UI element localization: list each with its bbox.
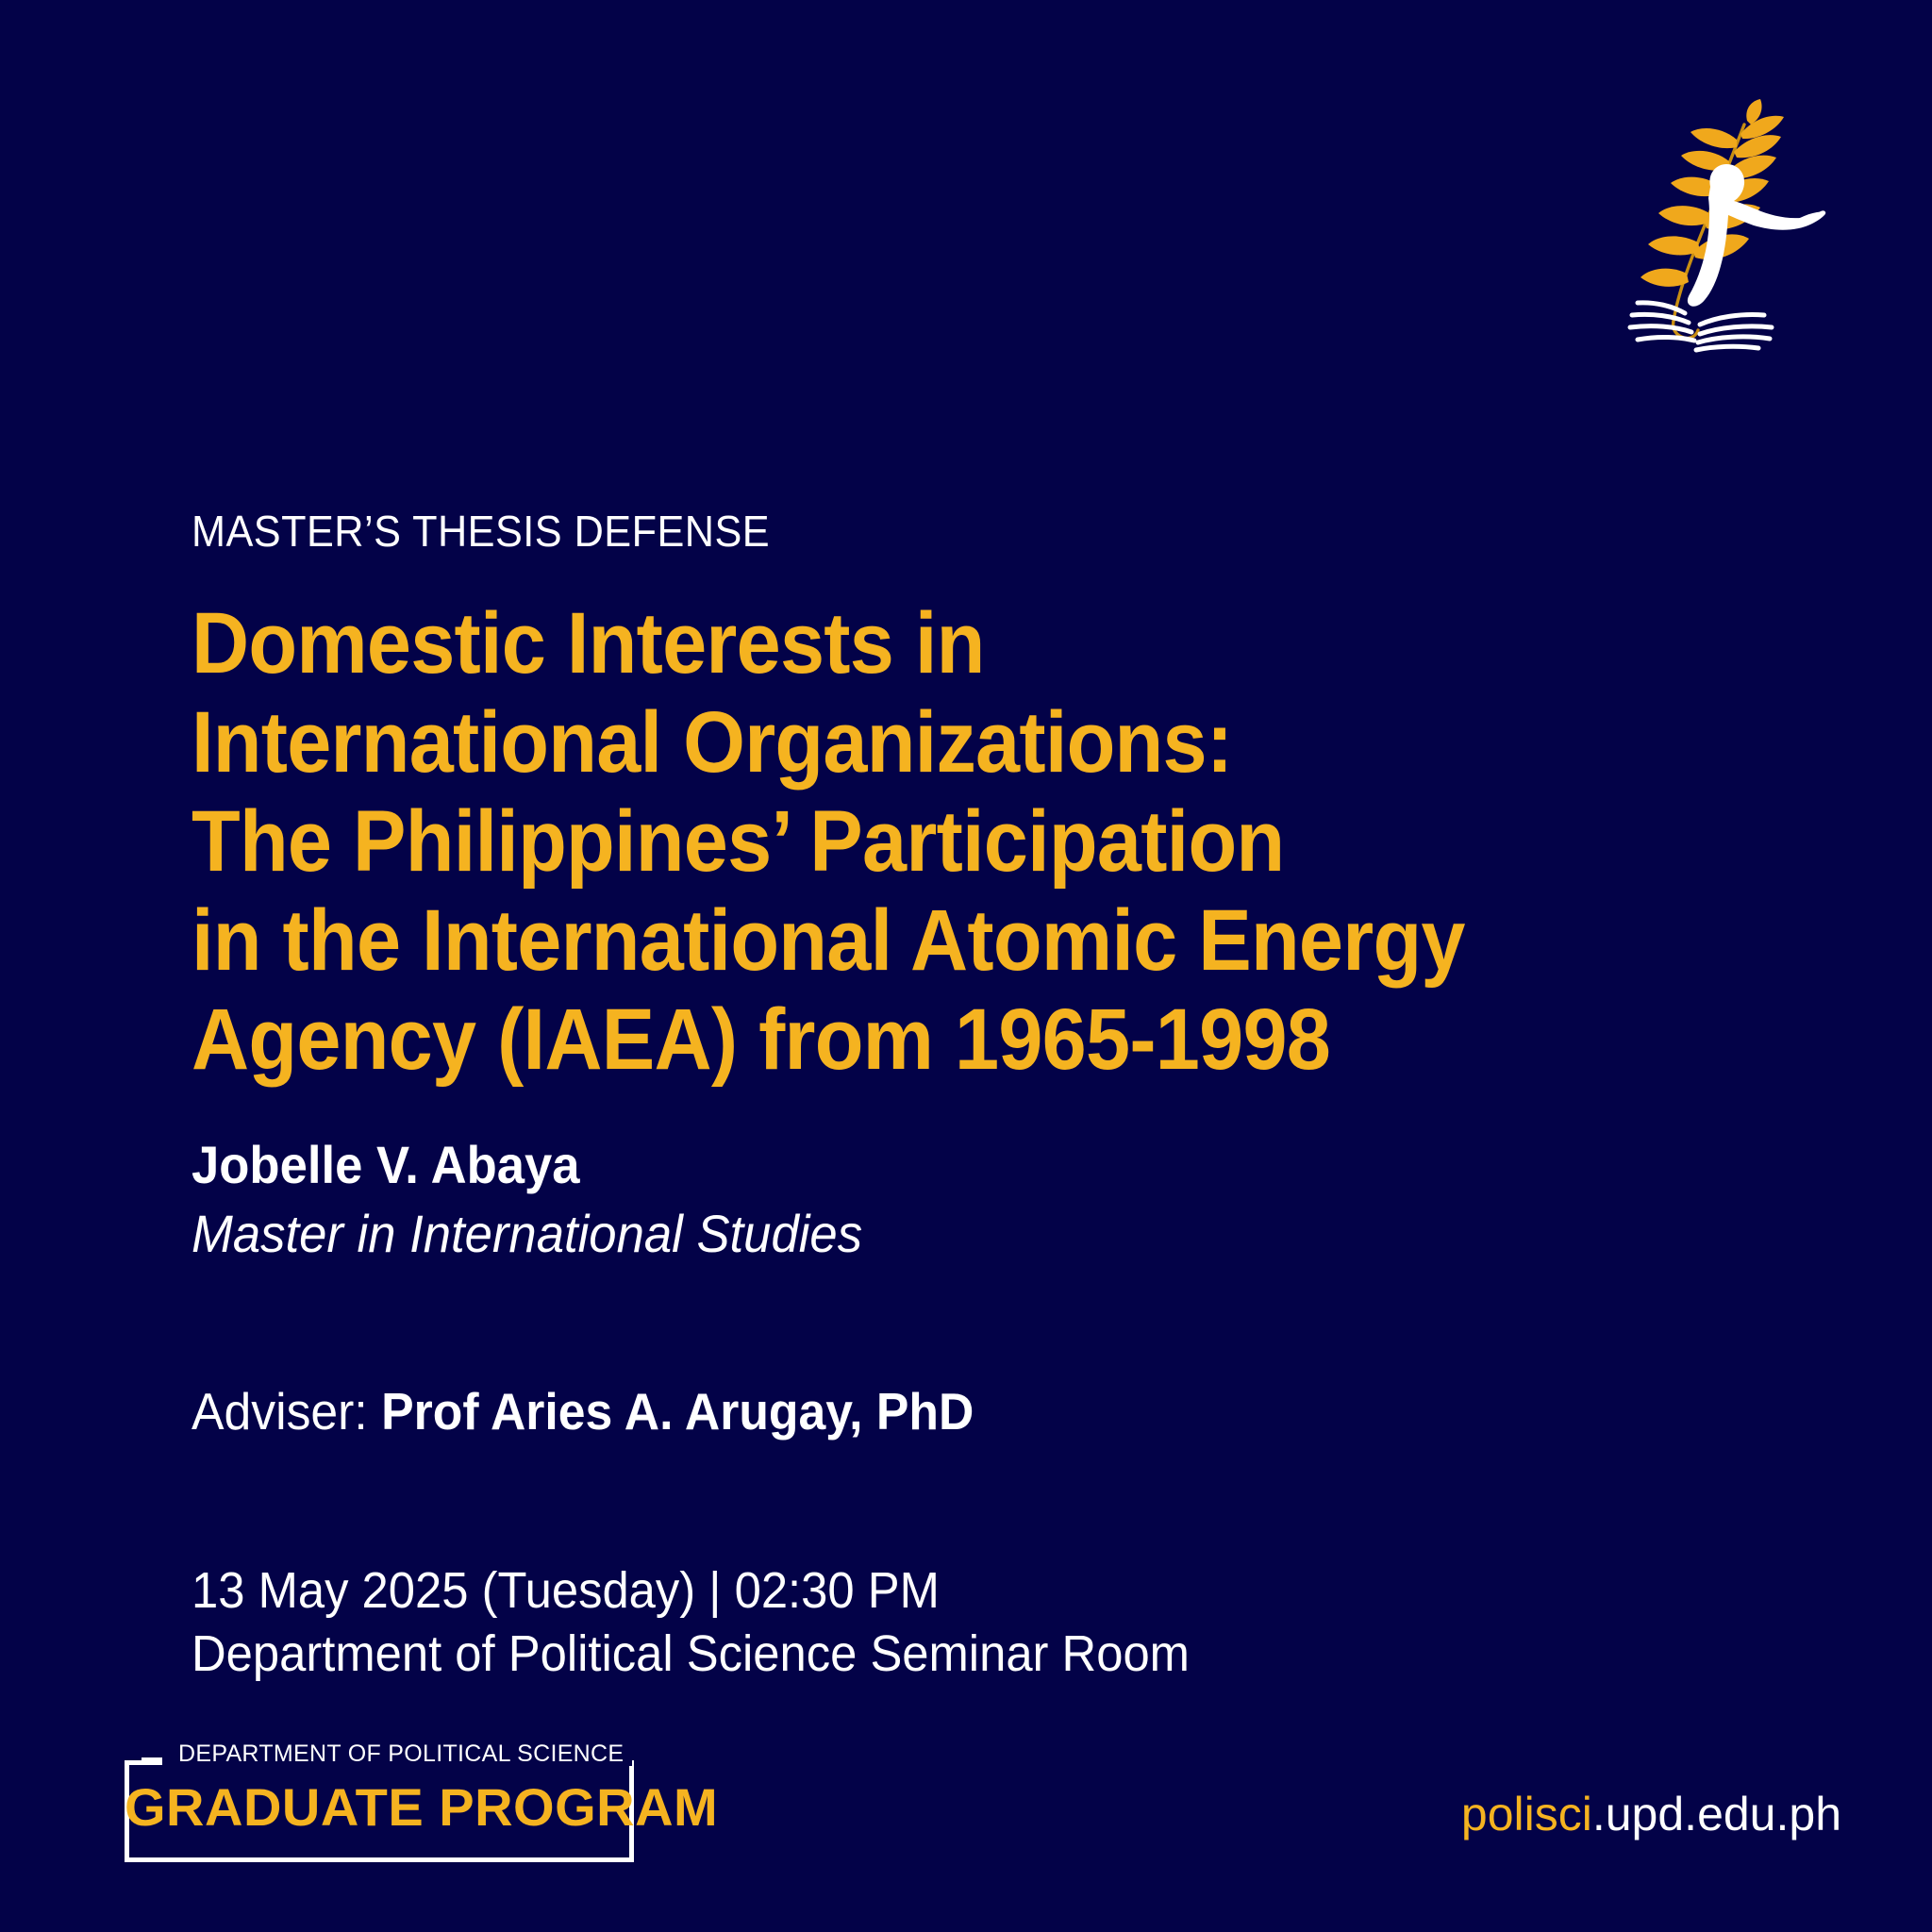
graduate-program-badge: DEPARTMENT OF POLITICAL SCIENCE GRADUATE… bbox=[125, 1760, 634, 1862]
event-details: 13 May 2025 (Tuesday) | 02:30 PM Departm… bbox=[192, 1559, 1681, 1687]
website-url[interactable]: polisci.upd.edu.ph bbox=[1461, 1790, 1841, 1838]
adviser-name: Prof Aries A. Arugay, PhD bbox=[381, 1382, 974, 1441]
up-political-science-logo bbox=[1591, 98, 1845, 353]
badge-title: GRADUATE PROGRAM bbox=[125, 1781, 634, 1834]
title-line-3: The Philippines’ Participation bbox=[192, 792, 1650, 891]
main-content: MASTER’S THESIS DEFENSE Domestic Interes… bbox=[192, 509, 1776, 1687]
open-book-icon bbox=[1630, 303, 1772, 350]
event-venue: Department of Political Science Seminar … bbox=[192, 1623, 1681, 1687]
adviser-label: Adviser: bbox=[192, 1382, 368, 1441]
title-line-4: in the International Atomic Energy bbox=[192, 891, 1650, 991]
author-block: Jobelle V. Abaya Master in International… bbox=[192, 1134, 1681, 1266]
page-title: Domestic Interests in International Orga… bbox=[192, 594, 1650, 1089]
website-domain: .upd.edu.ph bbox=[1592, 1788, 1841, 1840]
website-highlight: polisci bbox=[1461, 1788, 1592, 1840]
badge-tick-left bbox=[142, 1757, 162, 1765]
title-line-2: International Organizations: bbox=[192, 693, 1650, 792]
author-name: Jobelle V. Abaya bbox=[192, 1134, 1681, 1196]
title-line-5: Agency (IAEA) from 1965-1998 bbox=[192, 991, 1650, 1090]
badge-caption: DEPARTMENT OF POLITICAL SCIENCE bbox=[170, 1742, 632, 1766]
eyebrow-label: MASTER’S THESIS DEFENSE bbox=[192, 509, 1681, 553]
poster-canvas: MASTER’S THESIS DEFENSE Domestic Interes… bbox=[0, 0, 1932, 1932]
title-line-1: Domestic Interests in bbox=[192, 594, 1650, 693]
event-datetime: 13 May 2025 (Tuesday) | 02:30 PM bbox=[192, 1559, 1681, 1624]
author-degree: Master in International Studies bbox=[192, 1202, 1681, 1266]
adviser-line: Adviser: Prof Aries A. Arugay, PhD bbox=[192, 1380, 1681, 1442]
